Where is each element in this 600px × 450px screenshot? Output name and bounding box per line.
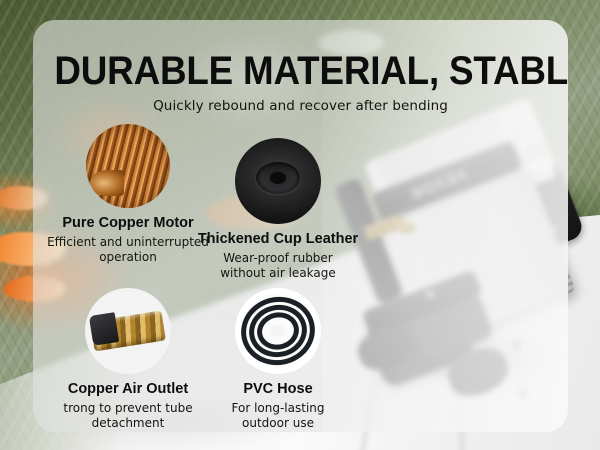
- feature-item-pure-copper-motor: Pure Copper Motor Efficient and uninterr…: [43, 124, 213, 265]
- feature-description: For long-lasting outdoor use: [193, 401, 363, 431]
- feature-description: Efficient and uninterrupted operation: [43, 235, 213, 265]
- feature-description-line: operation: [43, 250, 213, 265]
- brass-barb-fitting-icon: [85, 288, 171, 374]
- product-feature-banner: VEVOR DURABLE MATERIAL, STABLE OUTPUT Qu…: [0, 0, 600, 450]
- feature-description-line: trong to prevent tube: [43, 401, 213, 416]
- copper-motor-winding-icon: [86, 124, 170, 208]
- feature-description-line: outdoor use: [193, 416, 363, 431]
- hose-coil-outer: [235, 290, 321, 372]
- feature-item-thickened-cup-leather: Thickened Cup Leather Wear-proof rubber …: [193, 138, 363, 281]
- feature-description-line: Wear-proof rubber: [193, 251, 363, 266]
- feature-description: Wear-proof rubber without air leakage: [193, 251, 363, 281]
- feature-description-line: detachment: [43, 416, 213, 431]
- feature-item-copper-air-outlet: Copper Air Outlet trong to prevent tube …: [43, 288, 213, 431]
- feature-title: Copper Air Outlet: [43, 380, 213, 398]
- feature-description-line: Efficient and uninterrupted: [43, 235, 213, 250]
- feature-item-pvc-hose: PVC Hose For long-lasting outdoor use: [193, 288, 363, 431]
- feature-title: PVC Hose: [193, 380, 363, 398]
- feature-title: Thickened Cup Leather: [193, 230, 363, 248]
- coiled-pvc-hose-icon: [235, 288, 321, 374]
- feature-description: trong to prevent tube detachment: [43, 401, 213, 431]
- feature-title: Pure Copper Motor: [43, 214, 213, 232]
- rubber-cup-leather-icon: [235, 138, 321, 224]
- page-subtitle: Quickly rebound and recover after bendin…: [33, 98, 568, 114]
- feature-description-line: without air leakage: [193, 266, 363, 281]
- feature-description-line: For long-lasting: [193, 401, 363, 416]
- frosted-content-panel: DURABLE MATERIAL, STABLE OUTPUT Quickly …: [33, 20, 568, 432]
- page-title: DURABLE MATERIAL, STABLE OUTPUT: [54, 50, 546, 92]
